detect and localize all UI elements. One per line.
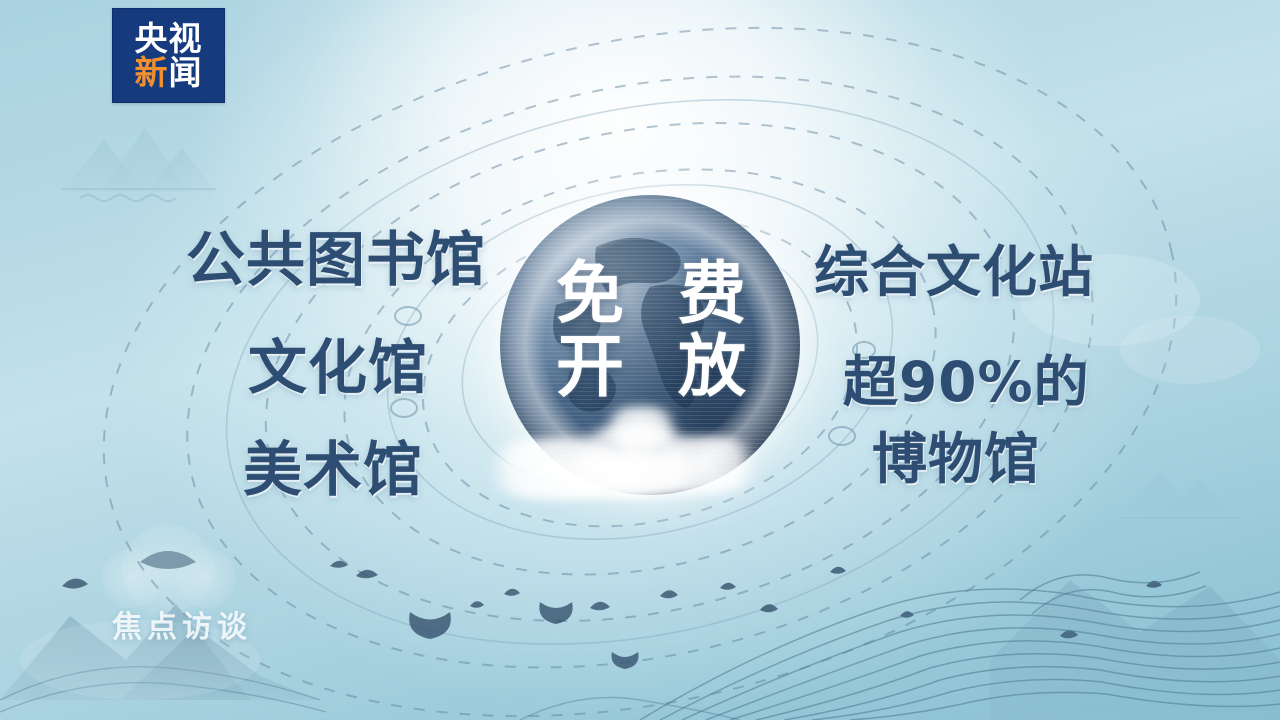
topographic-contours-left xyxy=(0,667,740,720)
logo-char-xin: 新 xyxy=(135,56,169,89)
label-cultural-center: 文化馆 xyxy=(248,338,428,397)
label-public-library: 公共图书馆 xyxy=(186,230,486,289)
logo-char-yang: 央视 xyxy=(135,22,203,55)
topographic-contours xyxy=(640,572,1280,720)
headline-char-mian: 免 xyxy=(556,262,624,329)
mountain-emblem-icon xyxy=(62,128,216,201)
logo-char-wen: 闻 xyxy=(169,56,203,89)
logo-line-2: 新 闻 xyxy=(135,56,203,89)
program-watermark: 焦点访谈 xyxy=(112,602,252,646)
ink-wash-mountains xyxy=(0,580,1280,720)
label-art-gallery: 美术馆 xyxy=(243,440,423,499)
cctv-news-logo: 央视 新 闻 xyxy=(112,8,225,103)
headline-row-1: 免 费 xyxy=(556,262,746,329)
label-museum: 博物馆 xyxy=(872,432,1040,487)
headline-char-kai: 开 xyxy=(556,335,624,402)
free-admission-headline: 免 费 开 放 xyxy=(556,262,746,401)
headline-row-2: 开 放 xyxy=(556,335,746,402)
headline-char-fang: 放 xyxy=(678,335,746,402)
label-cultural-station: 综合文化站 xyxy=(814,245,1094,300)
broadcast-graphic-frame: 央视 新 闻 公共图书馆 文化馆 美术馆 综合文化站 超90%的 博物馆 免 费… xyxy=(0,0,1280,720)
logo-line-1: 央视 xyxy=(135,22,203,55)
label-over-90-percent: 超90%的 xyxy=(843,355,1090,410)
headline-char-fei: 费 xyxy=(678,262,746,329)
mountain-emblem-right-icon xyxy=(1118,470,1240,520)
